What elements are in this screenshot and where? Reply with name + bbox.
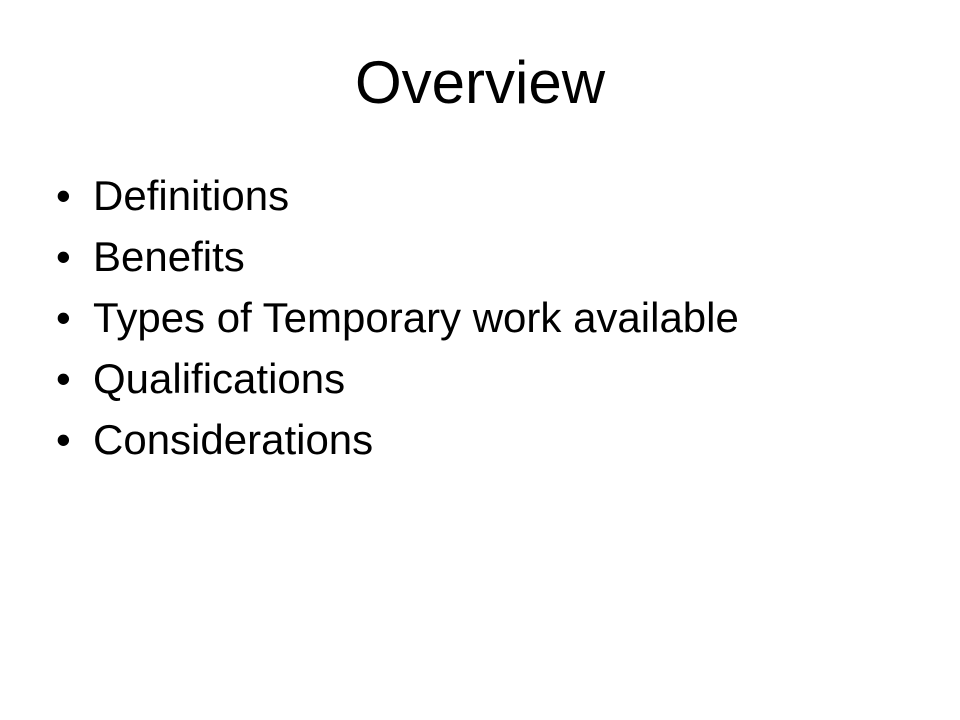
list-item-label: Qualifications — [93, 355, 345, 403]
bullet-point-icon: • — [52, 172, 93, 220]
list-item: • Considerations — [52, 416, 922, 477]
bullet-point-icon: • — [52, 416, 93, 464]
presentation-slide: Overview • Definitions • Benefits • Type… — [0, 0, 960, 720]
list-item-label: Benefits — [93, 233, 245, 281]
list-item-label: Definitions — [93, 172, 289, 220]
list-item-label: Considerations — [93, 416, 373, 464]
list-item: • Types of Temporary work available — [52, 294, 922, 355]
bullet-list: • Definitions • Benefits • Types of Temp… — [52, 172, 922, 477]
bullet-point-icon: • — [52, 294, 93, 342]
list-item: • Definitions — [52, 172, 922, 233]
list-item: • Qualifications — [52, 355, 922, 416]
bullet-point-icon: • — [52, 233, 93, 281]
list-item: • Benefits — [52, 233, 922, 294]
list-item-label: Types of Temporary work available — [93, 294, 739, 342]
bullet-point-icon: • — [52, 355, 93, 403]
page-title: Overview — [0, 50, 960, 116]
